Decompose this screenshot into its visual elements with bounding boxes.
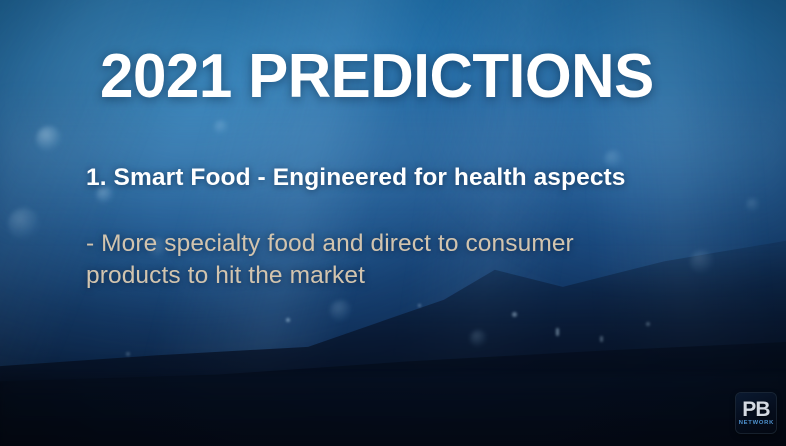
logo-wordmark: NETWORK [738,420,773,426]
presentation-slide: 2021 PREDICTIONS 1. Smart Food - Enginee… [0,0,786,446]
slide-subheading: 1. Smart Food - Engineered for health as… [86,163,626,192]
body-line: products to hit the market [86,260,726,292]
pb-network-logo: PB NETWORK [736,393,776,433]
slide-content: 2021 PREDICTIONS 1. Smart Food - Enginee… [0,0,786,446]
slide-title: 2021 PREDICTIONS [100,46,654,108]
slide-body: - More specialty food and direct to cons… [86,228,726,292]
body-line: - More specialty food and direct to cons… [86,228,726,260]
logo-monogram: PB [742,400,770,419]
